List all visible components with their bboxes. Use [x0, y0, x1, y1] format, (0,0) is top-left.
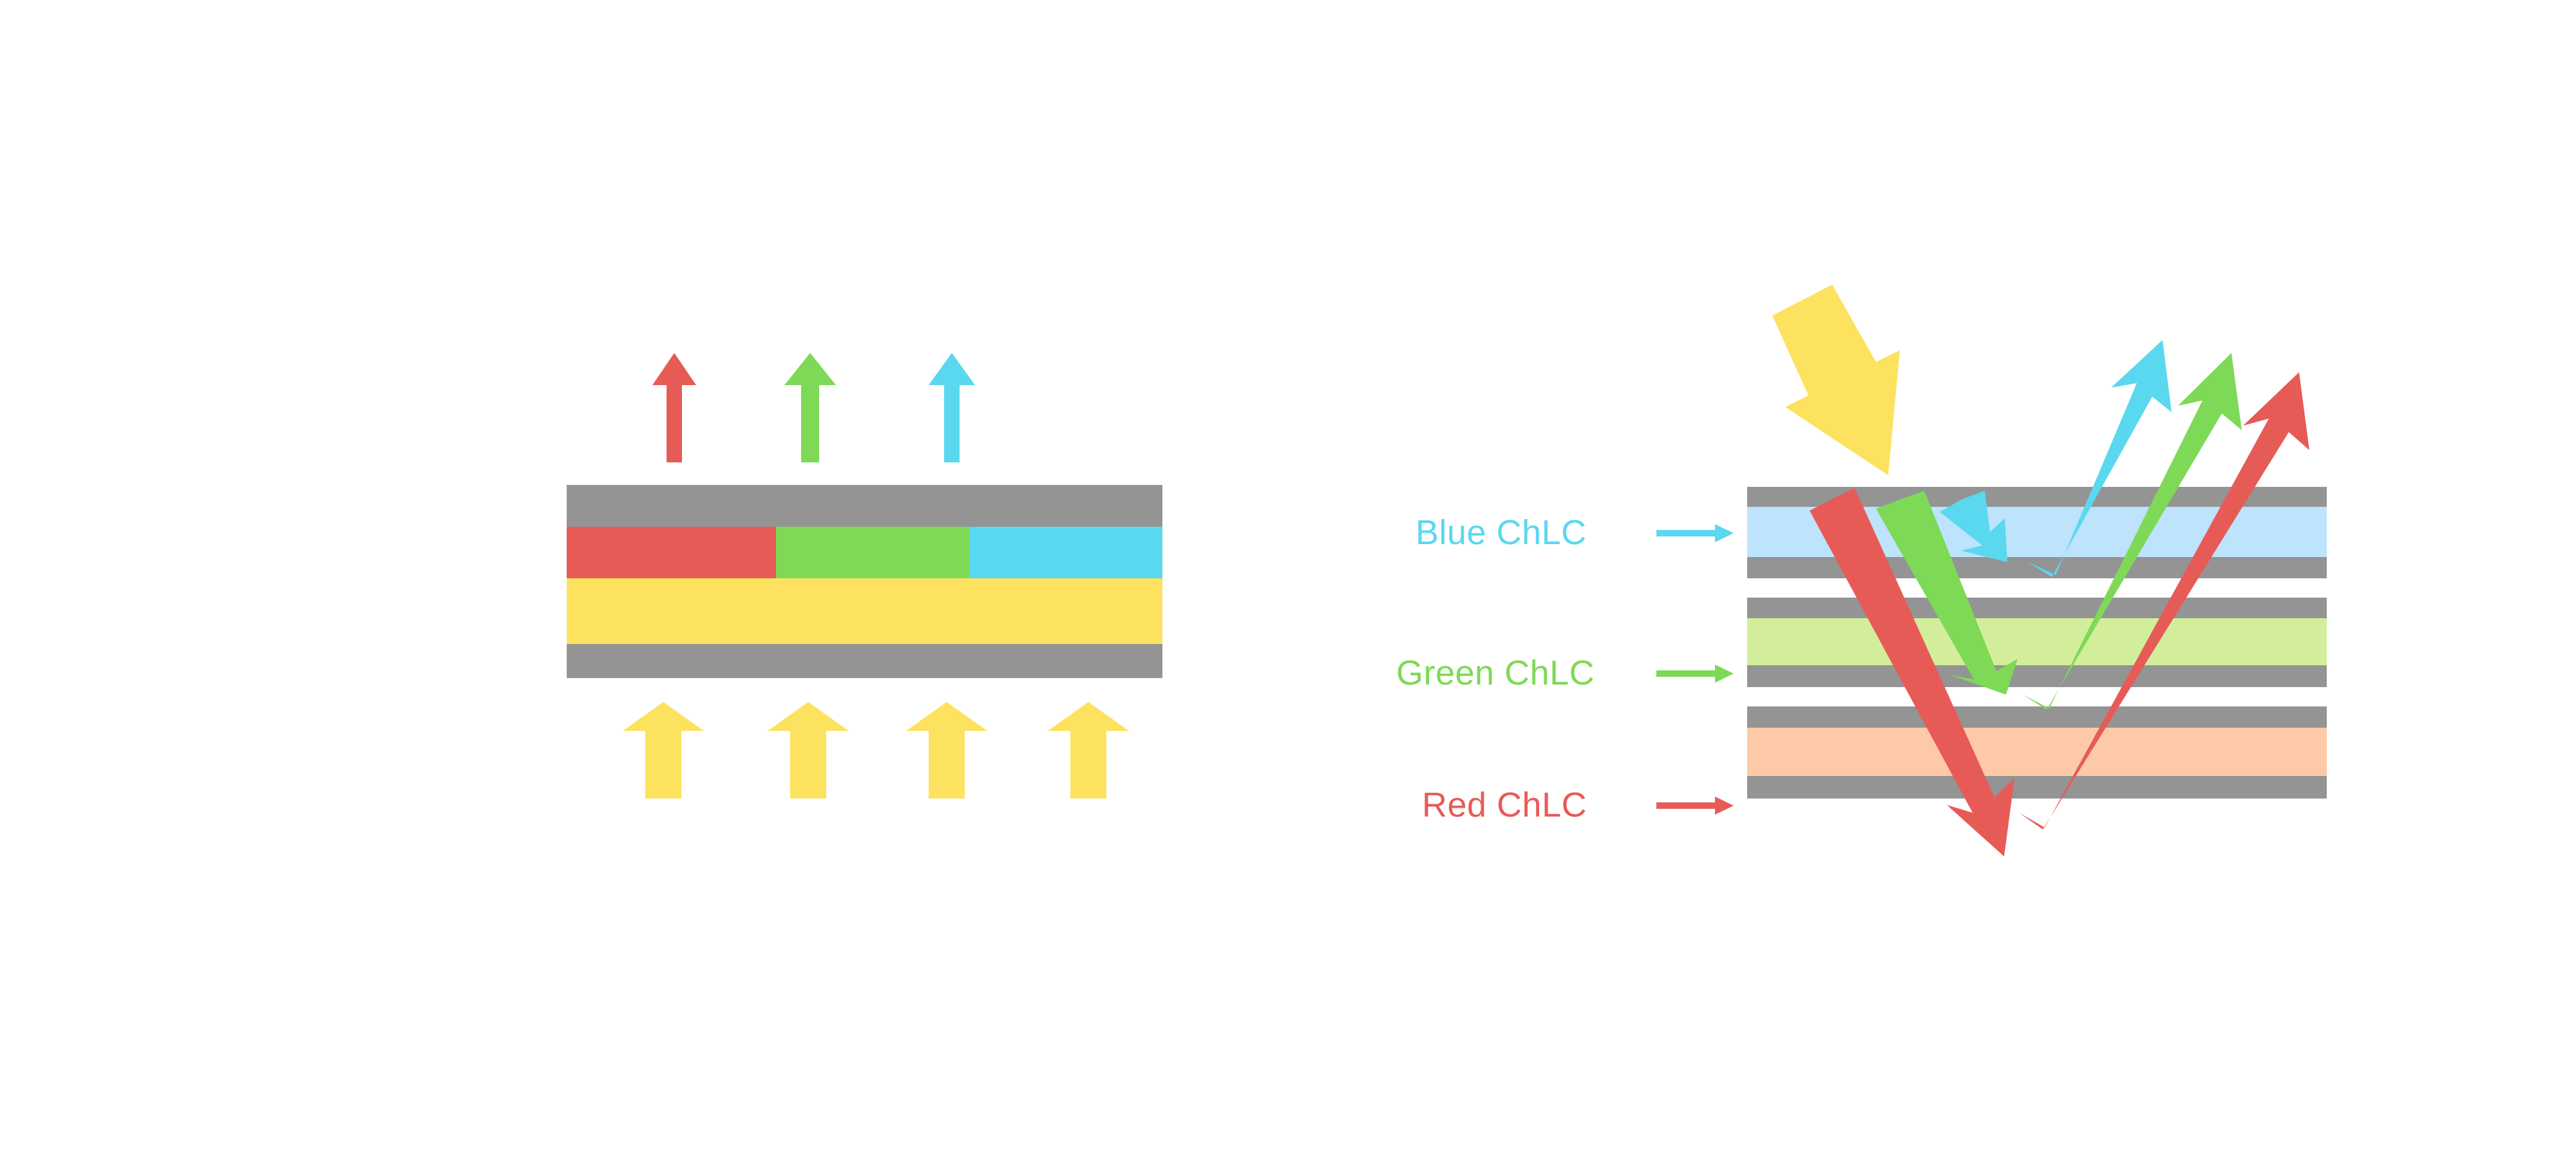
- red-chlc-cell: [1747, 706, 2327, 799]
- red-chlc-label-text: Red ChLC: [1422, 786, 1587, 824]
- yellow-backlight-layer: [567, 578, 1162, 644]
- red-cell-bottom-substrate: [1747, 776, 2327, 799]
- green-cell-top-substrate: [1747, 598, 2327, 618]
- cyan-filter-segment: [969, 527, 1162, 578]
- left-bottom-electrode: [567, 644, 1162, 678]
- red-cell-top-substrate: [1747, 706, 2327, 728]
- green-cell-bottom-substrate: [1747, 665, 2327, 687]
- figure-canvas: Blue ChLC Green ChLC Red ChLC: [0, 0, 2576, 1154]
- diagram-svg: Blue ChLC Green ChLC Red ChLC: [0, 0, 2576, 1154]
- blue-cell-bottom-substrate: [1747, 557, 2327, 578]
- green-chlc-cell: [1747, 598, 2327, 687]
- red-chlc-layer: [1747, 728, 2327, 776]
- blue-chlc-label-text: Blue ChLC: [1416, 513, 1587, 552]
- left-top-electrode: [567, 485, 1162, 527]
- green-filter-segment: [776, 527, 969, 578]
- left-stack-layers: [567, 485, 1162, 678]
- green-chlc-layer: [1747, 618, 2327, 665]
- red-filter-segment: [567, 527, 776, 578]
- green-chlc-label-text: Green ChLC: [1396, 654, 1595, 692]
